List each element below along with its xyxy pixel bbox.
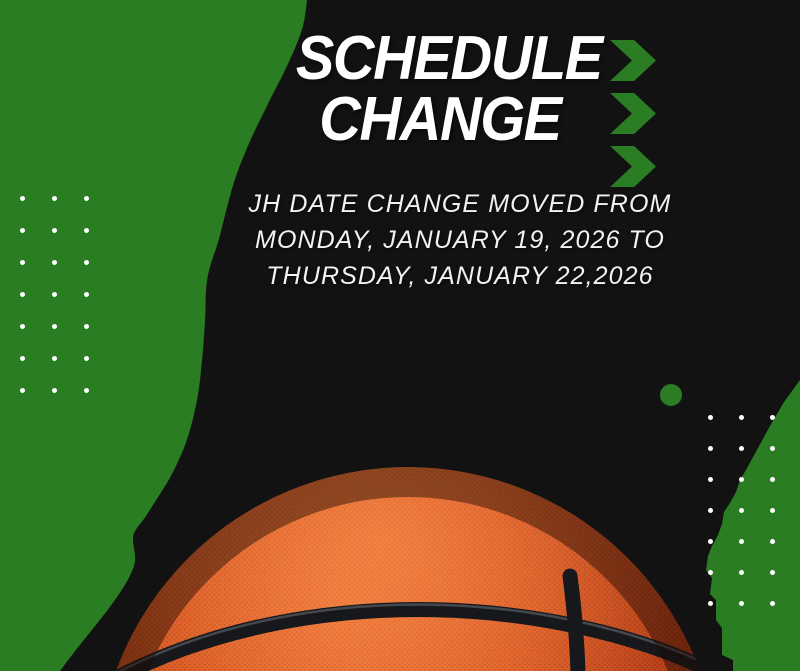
body-line-2: MONDAY, JANUARY 19, 2026 TO — [205, 222, 715, 258]
dot — [725, 587, 757, 619]
dot — [694, 494, 726, 526]
dot — [694, 525, 726, 557]
dot — [38, 374, 70, 406]
dot — [756, 494, 788, 526]
dot — [694, 401, 726, 433]
dot-grid-left — [6, 182, 102, 406]
dot — [70, 374, 102, 406]
chevron-group — [608, 40, 658, 199]
body-text: JH DATE CHANGE MOVED FROM MONDAY, JANUAR… — [205, 186, 715, 294]
dot — [725, 401, 757, 433]
dot — [70, 246, 102, 278]
dot-grid-right — [694, 401, 787, 618]
headline-line-2: CHANGE — [296, 89, 584, 150]
dot — [70, 214, 102, 246]
dot — [756, 556, 788, 588]
chevron-right-icon — [608, 93, 658, 139]
dot — [6, 374, 38, 406]
headline-line-1: SCHEDULE — [296, 28, 584, 89]
dot — [694, 432, 726, 464]
green-accent-dot — [660, 384, 682, 406]
dot — [694, 556, 726, 588]
body-line-3: THURSDAY, JANUARY 22,2026 — [205, 258, 715, 294]
dot — [38, 278, 70, 310]
dot — [38, 310, 70, 342]
schedule-change-poster: SCHEDULE CHANGE JH DATE CHANGE MOVED FRO… — [0, 0, 800, 671]
dot — [70, 182, 102, 214]
dot — [725, 463, 757, 495]
dot — [6, 246, 38, 278]
dot — [6, 310, 38, 342]
dot — [725, 556, 757, 588]
dot — [38, 214, 70, 246]
dot — [6, 214, 38, 246]
dot — [38, 182, 70, 214]
dot — [6, 182, 38, 214]
dot — [70, 342, 102, 374]
chevron-right-icon — [608, 40, 658, 86]
dot — [756, 463, 788, 495]
dot — [756, 401, 788, 433]
headline: SCHEDULE CHANGE — [285, 28, 595, 151]
dot — [6, 278, 38, 310]
dot — [725, 494, 757, 526]
dot — [756, 432, 788, 464]
dot — [694, 587, 726, 619]
dot — [38, 246, 70, 278]
dot — [6, 342, 38, 374]
dot — [725, 525, 757, 557]
dot — [756, 525, 788, 557]
body-line-1: JH DATE CHANGE MOVED FROM — [205, 186, 715, 222]
dot — [725, 432, 757, 464]
dot — [70, 278, 102, 310]
dot — [38, 342, 70, 374]
dot — [70, 310, 102, 342]
dot — [756, 587, 788, 619]
dot — [694, 463, 726, 495]
